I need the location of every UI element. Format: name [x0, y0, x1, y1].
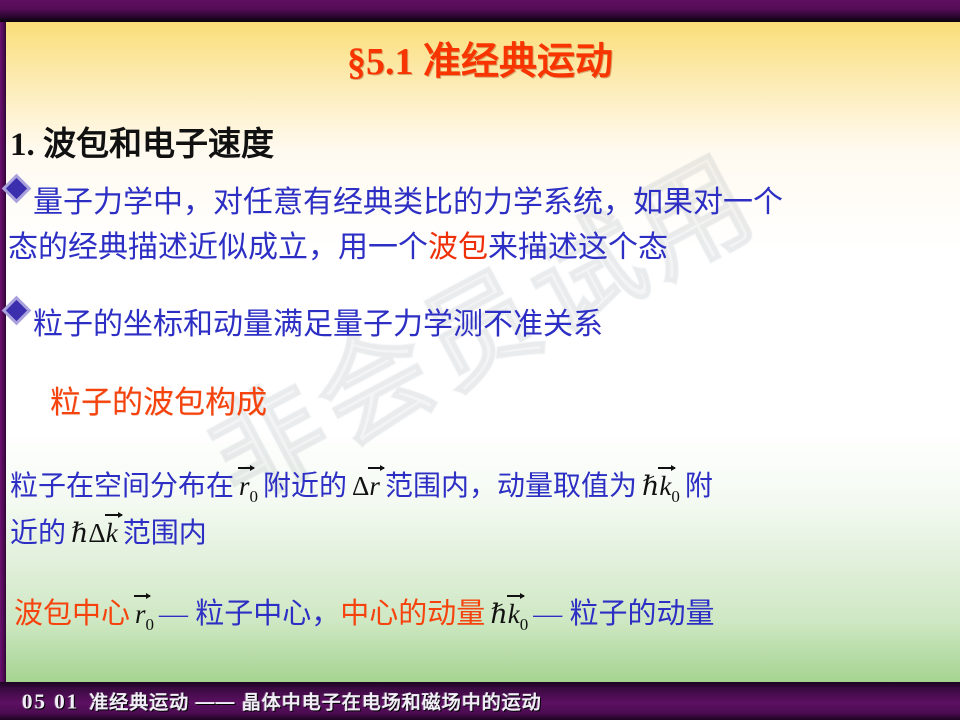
footer-number: 05 01: [22, 690, 79, 714]
math-p1-text-3: 范围内，动量取值为: [385, 471, 637, 502]
conclusion-seg-4: — 粒子的动量: [533, 598, 714, 630]
conclusion-line: 波包中心r0— 粒子中心，中心的动量ℏk0— 粒子的动量: [14, 590, 714, 635]
bullet-2-line-1: 粒子的坐标和动量满足量子力学测不准关系: [33, 299, 603, 343]
bullet-item-2: [6, 300, 31, 324]
footer-text: 准经典运动 —— 晶体中电子在电场和磁场中的运动: [89, 693, 542, 714]
bullet-1-line-1: 量子力学中，对任意有经典类比的力学系统，如果对一个: [33, 177, 783, 221]
diamond-bullet-icon: [6, 300, 27, 321]
footer-bar: 05 01准经典运动 —— 晶体中电子在电场和磁场中的运动: [0, 682, 960, 720]
conclusion-seg-3: 中心的动量: [340, 598, 485, 630]
math-p2-text-1: 近的: [10, 518, 66, 549]
bullet-1-line-2-seg-3: 来描述这个态: [488, 231, 668, 264]
math-p2-text-2: 范围内: [123, 518, 207, 549]
section-heading: 1. 波包和电子速度: [10, 117, 274, 165]
math-expression-hbar-k0-2: ℏk0: [490, 597, 528, 635]
math-expression-r0: r0: [239, 469, 258, 507]
conclusion-seg-1: 波包中心: [14, 598, 130, 630]
math-p1-text-2: 附近的: [263, 471, 347, 502]
math-expression-hbar-delta-k: ℏΔk: [71, 516, 118, 549]
diamond-bullet-icon: [6, 178, 27, 199]
bullet-item-1: [6, 178, 31, 202]
bullet-1-line-2: 态的经典描述近似成立，用一个波包来描述这个态: [8, 222, 668, 266]
math-p1-text-1: 粒子在空间分布在: [10, 471, 234, 502]
slide-body: 1. 波包和电子速度 量子力学中，对任意有经典类比的力学系统，如果对一个 态的经…: [0, 0, 960, 720]
math-paragraph-line-1: 粒子在空间分布在r0附近的Δr范围内，动量取值为ℏk0附: [10, 464, 713, 507]
math-paragraph-line-2: 近的ℏΔk范围内: [10, 511, 207, 551]
sub-heading-text: 粒子的波包构成: [50, 385, 267, 420]
section-heading-number: 1.: [10, 127, 35, 163]
bullet-1-line-2-highlight: 波包: [428, 231, 488, 264]
conclusion-seg-2: — 粒子中心，: [159, 598, 340, 630]
bullet-2-line-1-text: 粒子的坐标和动量满足量子力学测不准关系: [33, 308, 603, 341]
math-p1-text-4: 附: [685, 471, 713, 502]
footer-text-wrap: 05 01准经典运动 —— 晶体中电子在电场和磁场中的运动: [22, 688, 542, 715]
math-expression-hbar-k0: ℏk0: [642, 469, 680, 507]
section-heading-text: 波包和电子速度: [43, 127, 274, 163]
math-expression-r0-2: r0: [135, 597, 154, 635]
bullet-1-line-2-seg-1: 态的经典描述近似成立，用一个: [8, 231, 428, 264]
bullet-1-line-1-text: 量子力学中，对任意有经典类比的力学系统，如果对一个: [33, 186, 783, 219]
sub-heading: 粒子的波包构成: [50, 377, 267, 422]
math-expression-delta-r: Δr: [352, 469, 380, 502]
slide-canvas: 非会员试用 §5.1 准经典运动 1. 波包和电子速度 量子力学中，对任意有经典…: [0, 0, 960, 720]
